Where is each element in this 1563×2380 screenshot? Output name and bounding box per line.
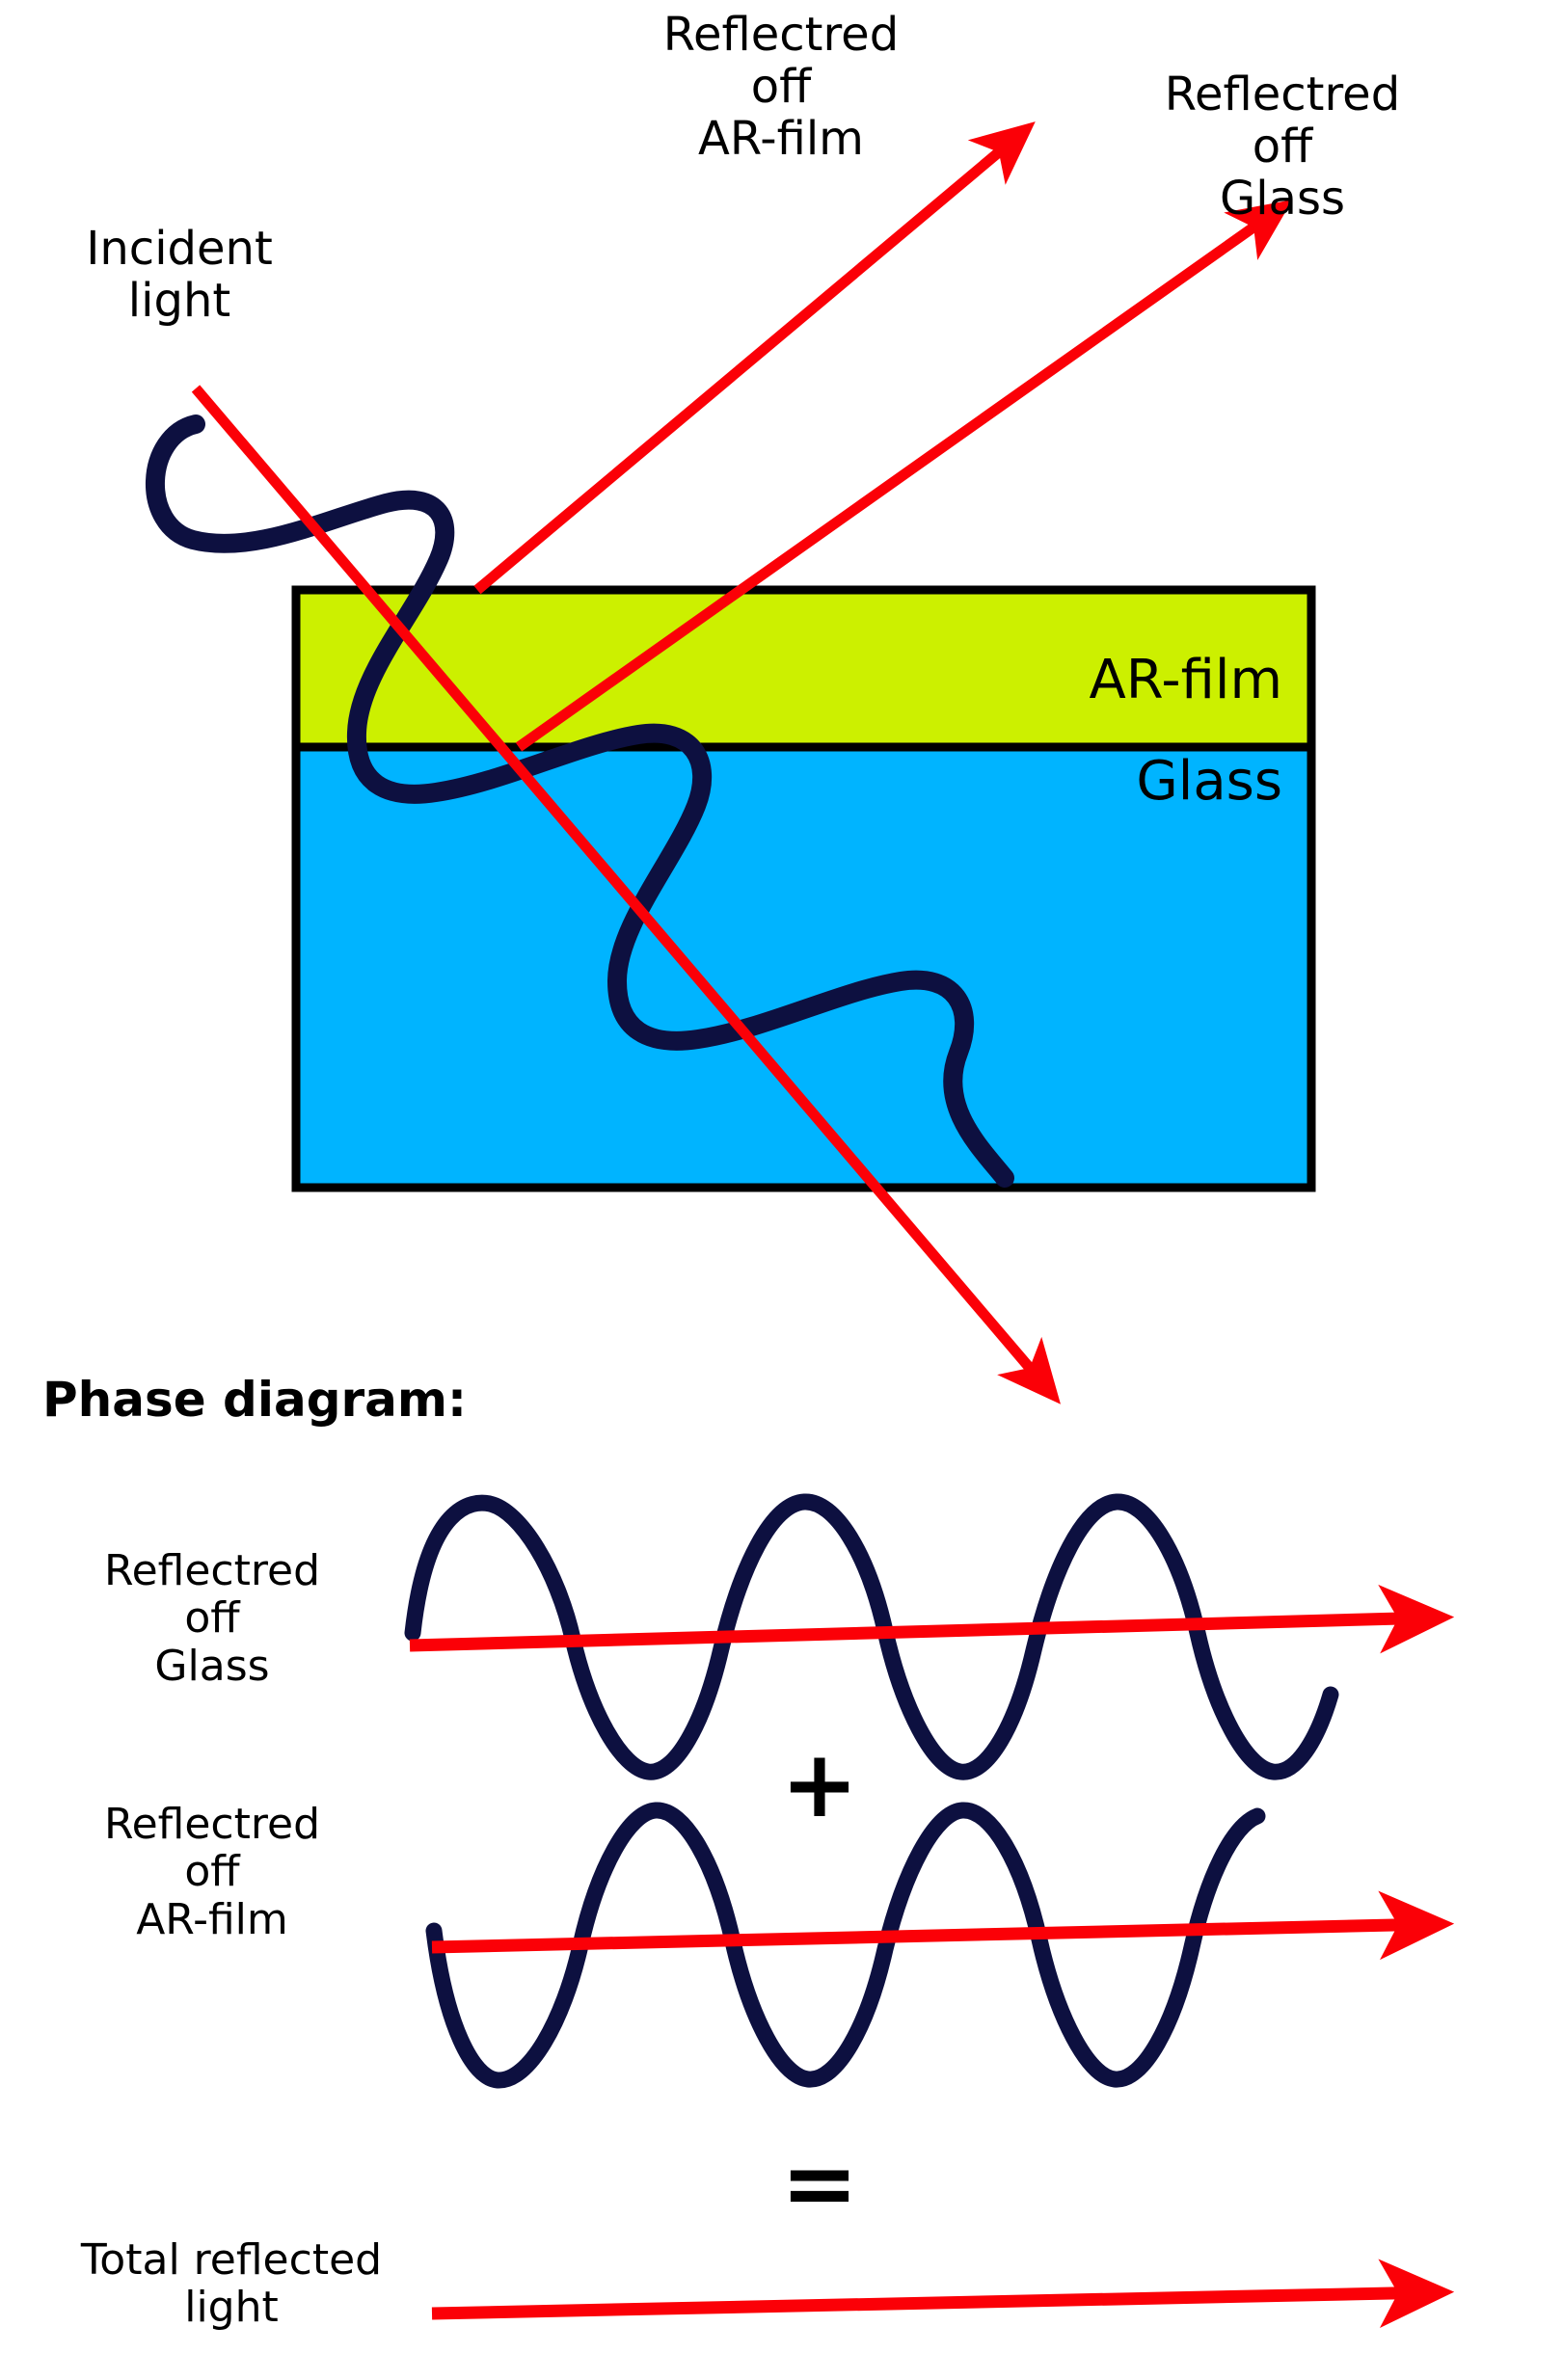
diagram-artwork	[0, 0, 1563, 2380]
reflected-off-glass-label: Reflectred off Glass	[1051, 69, 1514, 225]
incident-light-label: Incident light	[35, 224, 324, 328]
glass-layer	[296, 747, 1311, 1188]
equals-operator: =	[742, 2132, 897, 2236]
phase-row-label-ar-film: Reflectred off AR-film	[10, 1801, 415, 1943]
phase-axis-total	[432, 2292, 1437, 2313]
diagram-canvas: Incident light Reflectred off AR-film Re…	[0, 0, 1563, 2380]
plus-operator: +	[742, 1733, 897, 1837]
reflected-off-ar-film-label: Reflectred off AR-film	[540, 10, 1022, 165]
glass-layer-label: Glass	[733, 752, 1282, 813]
reflected-off-ar-film-ray	[477, 131, 1024, 590]
phase-row-label-glass: Reflectred off Glass	[10, 1547, 415, 1690]
phase-row-label-total: Total reflected light	[10, 2236, 453, 2332]
phase-diagram-heading: Phase diagram:	[42, 1373, 621, 1427]
ar-film-layer-label: AR-film	[733, 651, 1282, 711]
